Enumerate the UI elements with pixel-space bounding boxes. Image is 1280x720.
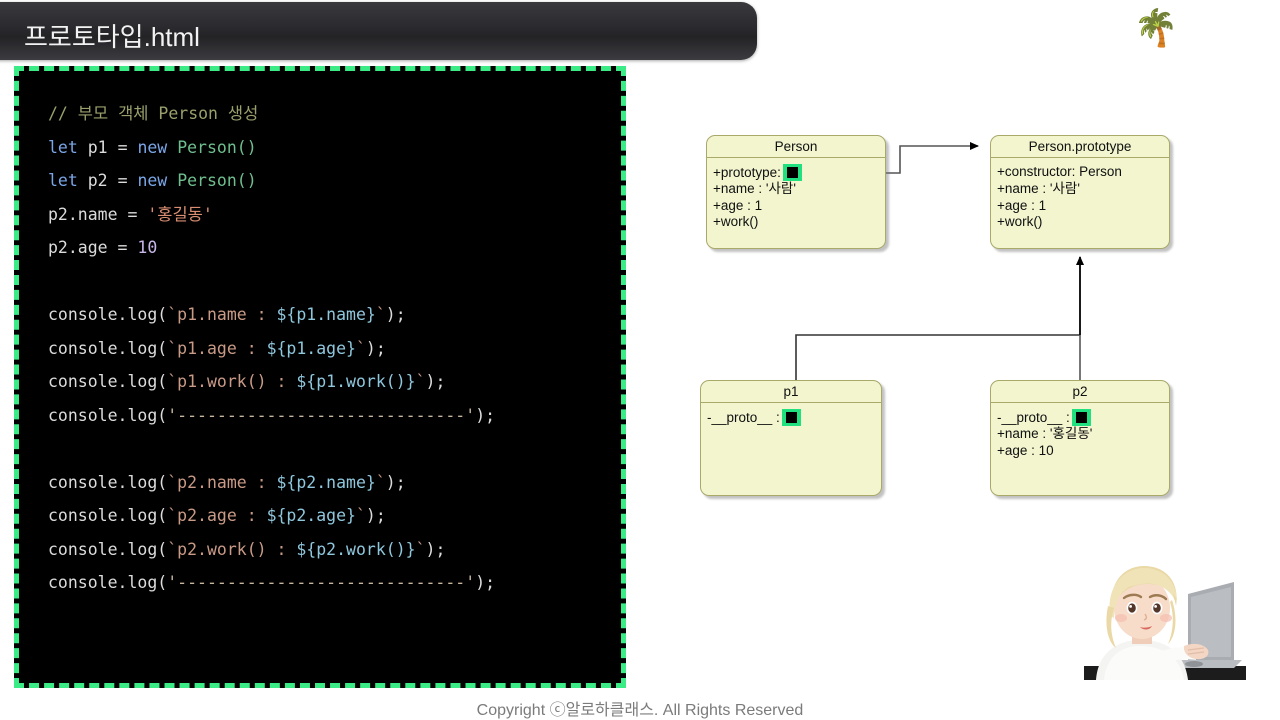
uml-attribute-row: +name : '사람' [713, 181, 885, 198]
uml-box-person-prototype-body: +constructor: Person+name : '사람'+age : 1… [991, 158, 1169, 231]
prototype-reference-swatch[interactable] [783, 164, 802, 181]
code-token: `p1.name : [167, 305, 276, 324]
code-token: Person() [177, 171, 256, 190]
code-token: ` [376, 305, 386, 324]
code-line: console.log('---------------------------… [48, 566, 613, 600]
code-token: = [118, 171, 138, 190]
prototype-reference-swatch[interactable] [782, 409, 801, 426]
code-token: ` [416, 540, 426, 559]
code-token: `p2.name : [167, 473, 276, 492]
code-token: console.log( [48, 305, 167, 324]
code-token: ); [386, 305, 406, 324]
code-token: ' [465, 573, 475, 592]
palm-tree-icon: 🌴 [1133, 5, 1179, 51]
uml-attribute-label: +name : '사람' [997, 181, 1080, 196]
code-token: 10 [137, 238, 157, 257]
code-token: console.log( [48, 540, 167, 559]
code-line: let p2 = new Person() [48, 164, 613, 198]
code-token: p2 [88, 171, 118, 190]
uml-attribute-label: +constructor: Person [997, 164, 1122, 179]
code-token: p2.age [48, 238, 118, 257]
code-token: ); [366, 339, 386, 358]
code-token: ----------------------------- [177, 573, 465, 592]
uml-box-person-title: Person [707, 136, 885, 158]
code-line [48, 432, 613, 466]
uml-box-p2-body: -__proto__ :+name : '홍길동'+age : 10 [991, 403, 1169, 459]
code-token: ); [475, 573, 495, 592]
code-token: ` [356, 339, 366, 358]
code-token: ${p1.work()} [296, 372, 415, 391]
uml-box-p2-title: p2 [991, 381, 1169, 403]
code-token: `p2.work() : [167, 540, 296, 559]
uml-box-person-body: +prototype:+name : '사람'+age : 1+work() [707, 158, 885, 231]
uml-attribute-row: +age : 1 [997, 198, 1169, 215]
code-token: ); [426, 372, 446, 391]
code-editor-panel[interactable]: // 부모 객체 Person 생성let p1 = new Person()l… [14, 66, 626, 688]
uml-attribute-row: -__proto__ : [707, 409, 881, 426]
code-token: ); [426, 540, 446, 559]
page-title: 프로토타입.html [24, 17, 200, 54]
code-token: ); [366, 506, 386, 525]
code-token: '홍길동' [147, 205, 212, 224]
uml-box-person-prototype-title: Person.prototype [991, 136, 1169, 158]
prototype-chain-diagram: Person +prototype:+name : '사람'+age : 1+w… [690, 120, 1190, 520]
uml-attribute-label: +age : 1 [997, 198, 1046, 213]
code-token: ` [376, 473, 386, 492]
code-token: ); [386, 473, 406, 492]
uml-box-p1-title: p1 [701, 381, 881, 403]
code-token: new [137, 171, 177, 190]
code-token: console.log( [48, 406, 167, 425]
code-token: console.log( [48, 372, 167, 391]
uml-attribute-label: -__proto__ : [997, 410, 1070, 425]
code-token: p2.name [48, 205, 127, 224]
code-token: p1 [88, 138, 118, 157]
code-line: console.log(`p1.name : ${p1.name}`); [48, 298, 613, 332]
uml-attribute-label: +work() [997, 214, 1042, 229]
uml-attribute-row: +age : 10 [997, 443, 1169, 460]
code-token: console.log( [48, 473, 167, 492]
copyright-footer: Copyright ⓒ알로하클래스. All Rights Reserved [0, 696, 1280, 720]
code-token: let [48, 171, 88, 190]
code-line: p2.age = 10 [48, 231, 613, 265]
code-content: // 부모 객체 Person 생성let p1 = new Person()l… [48, 97, 613, 600]
code-token: ` [416, 372, 426, 391]
uml-attribute-row: +work() [713, 214, 885, 231]
code-token: ${p2.work()} [296, 540, 415, 559]
code-token: ' [167, 406, 177, 425]
code-token: = [118, 138, 138, 157]
code-token: ${p2.age} [267, 506, 356, 525]
code-token: `p1.age : [167, 339, 266, 358]
uml-attribute-row: -__proto__ : [997, 409, 1169, 426]
code-line: // 부모 객체 Person 생성 [48, 97, 613, 131]
code-token: ${p1.name} [277, 305, 376, 324]
uml-attribute-row: +name : '사람' [997, 181, 1169, 198]
code-token: ' [167, 573, 177, 592]
code-line: console.log(`p1.age : ${p1.age}`); [48, 332, 613, 366]
code-line: console.log('---------------------------… [48, 399, 613, 433]
code-token: = [127, 205, 147, 224]
code-token: ----------------------------- [177, 406, 465, 425]
uml-attribute-row: +work() [997, 214, 1169, 231]
woman-at-laptop-illustration [1084, 556, 1246, 688]
code-line: console.log(`p2.name : ${p2.name}`); [48, 466, 613, 500]
uml-attribute-row: +name : '홍길동' [997, 426, 1169, 443]
code-token: `p2.age : [167, 506, 266, 525]
code-token: ` [356, 506, 366, 525]
uml-attribute-label: +work() [713, 214, 758, 229]
uml-box-p1-body: -__proto__ : [701, 403, 881, 426]
uml-attribute-label: +prototype: [713, 165, 781, 180]
uml-attribute-row: +age : 1 [713, 198, 885, 215]
code-line: console.log(`p2.age : ${p2.age}`); [48, 499, 613, 533]
code-token: console.log( [48, 506, 167, 525]
uml-box-p2[interactable]: p2 -__proto__ :+name : '홍길동'+age : 10 [990, 380, 1170, 496]
code-line: let p1 = new Person() [48, 131, 613, 165]
uml-box-person-prototype[interactable]: Person.prototype +constructor: Person+na… [990, 135, 1170, 249]
prototype-reference-swatch[interactable] [1072, 409, 1091, 426]
code-line: console.log(`p1.work() : ${p1.work()}`); [48, 365, 613, 399]
code-token: ' [465, 406, 475, 425]
code-line: p2.name = '홍길동' [48, 198, 613, 232]
code-token: // 부모 객체 Person 생성 [48, 104, 258, 123]
code-token: = [118, 238, 138, 257]
code-token: ${p1.age} [267, 339, 356, 358]
uml-attribute-label: +name : '홍길동' [997, 426, 1092, 441]
uml-attribute-row: +constructor: Person [997, 164, 1169, 181]
uml-box-p1[interactable]: p1 -__proto__ : [700, 380, 882, 496]
uml-attribute-label: -__proto__ : [707, 410, 780, 425]
code-token: console.log( [48, 573, 167, 592]
code-token: `p1.work() : [167, 372, 296, 391]
code-line [48, 265, 613, 299]
uml-attribute-label: +age : 1 [713, 198, 762, 213]
code-token: new [137, 138, 177, 157]
uml-attribute-label: +name : '사람' [713, 181, 796, 196]
code-token: ${p2.name} [277, 473, 376, 492]
uml-attribute-label: +age : 10 [997, 443, 1054, 458]
uml-box-person[interactable]: Person +prototype:+name : '사람'+age : 1+w… [706, 135, 886, 249]
code-token: Person() [177, 138, 256, 157]
window-title-bar: 프로토타입.html [0, 2, 757, 60]
uml-attribute-row: +prototype: [713, 164, 885, 181]
code-token: ); [475, 406, 495, 425]
code-line: console.log(`p2.work() : ${p2.work()}`); [48, 533, 613, 567]
code-token: let [48, 138, 88, 157]
code-token: console.log( [48, 339, 167, 358]
